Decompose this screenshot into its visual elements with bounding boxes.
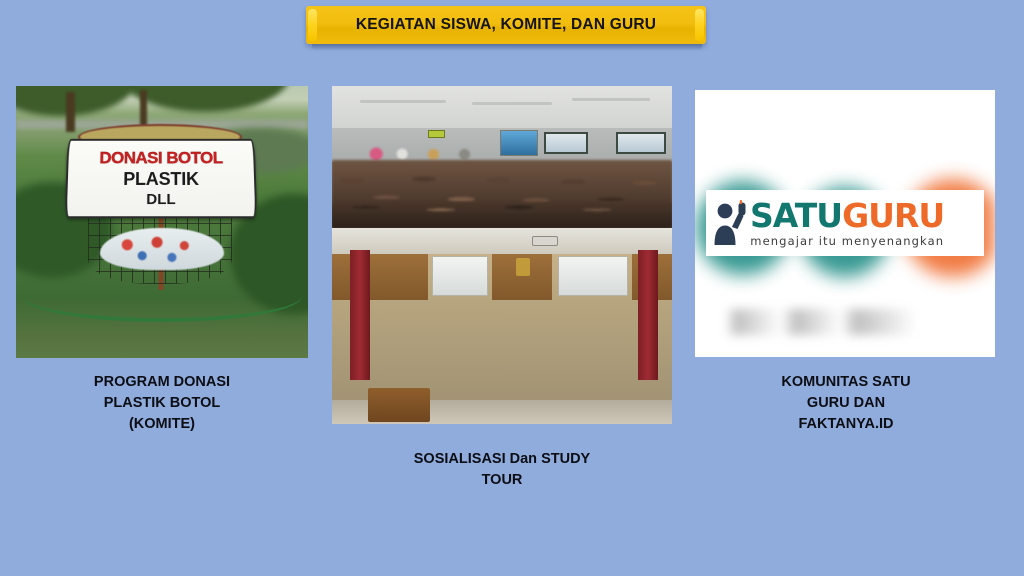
wordmark-satu: SATU: [750, 196, 842, 235]
front-row-students: [332, 202, 672, 228]
sign-line-3: DLL: [146, 191, 175, 208]
group-photo: [332, 228, 672, 424]
assembly-and-group-photo: [332, 86, 672, 424]
wordmark-guru: GURU: [842, 196, 944, 235]
title-banner-shadow: [312, 44, 702, 51]
caption-satuguru: KOMUNITAS SATU GURU DAN FAKTANYA.ID: [710, 372, 982, 435]
tree-canopy-left: [16, 86, 136, 116]
hall-ceiling: [332, 86, 672, 128]
satuguru-wordmark: SATUGURU: [750, 196, 944, 235]
page-title: KEGIATAN SISWA, KOMITE, DAN GURU: [356, 16, 656, 34]
ceiling-line-2: [472, 102, 552, 105]
exit-sign-icon: [428, 130, 445, 138]
ceiling-projector: [532, 236, 558, 246]
sign-line-1: DONASI BOTOL: [99, 149, 223, 169]
ceiling-line-1: [360, 100, 446, 103]
garden-hose: [22, 296, 302, 322]
satuguru-logo-photo: SATUGURU mengajar itu menyenangkan: [695, 90, 995, 357]
hall-projection-screen: [500, 130, 538, 156]
satuguru-tagline: mengajar itu menyenangkan: [750, 234, 944, 248]
title-banner-container: KEGIATAN SISWA, KOMITE, DAN GURU: [306, 6, 706, 44]
title-banner: KEGIATAN SISWA, KOMITE, DAN GURU: [306, 6, 706, 44]
caption-donation: PROGRAM DONASI PLASTIK BOTOL (KOMITE): [36, 372, 288, 435]
auditorium-ceiling: [332, 228, 672, 254]
person-raised-hand-icon: [712, 200, 752, 246]
wooden-table: [368, 388, 430, 422]
caption-sosialisasi: SOSIALISASI Dan STUDY TOUR: [352, 449, 652, 491]
sign-line-2: PLASTIK: [123, 169, 199, 190]
stage-presenters: [358, 142, 488, 162]
satuguru-logo-card: SATUGURU mengajar itu menyenangkan: [706, 190, 984, 256]
satuguru-wordmark-group: SATUGURU mengajar itu menyenangkan: [750, 199, 944, 248]
hall-window-2: [616, 132, 666, 154]
plastic-bottle-donation-bin-photo: DONASI BOTOL PLASTIK DLL: [16, 86, 308, 358]
donation-sign: DONASI BOTOL PLASTIK DLL: [65, 139, 258, 218]
collected-plastic-bottles: [100, 228, 224, 270]
hall-window-1: [544, 132, 588, 154]
logo-background-text: [721, 309, 971, 335]
wall-emblem: [516, 258, 530, 276]
ceiling-line-3: [572, 98, 650, 101]
slide-canvas: KEGIATAN SISWA, KOMITE, DAN GURU DONASI …: [0, 0, 1024, 576]
tree-trunk-right: [140, 90, 147, 126]
assembly-hall-photo: [332, 86, 672, 228]
